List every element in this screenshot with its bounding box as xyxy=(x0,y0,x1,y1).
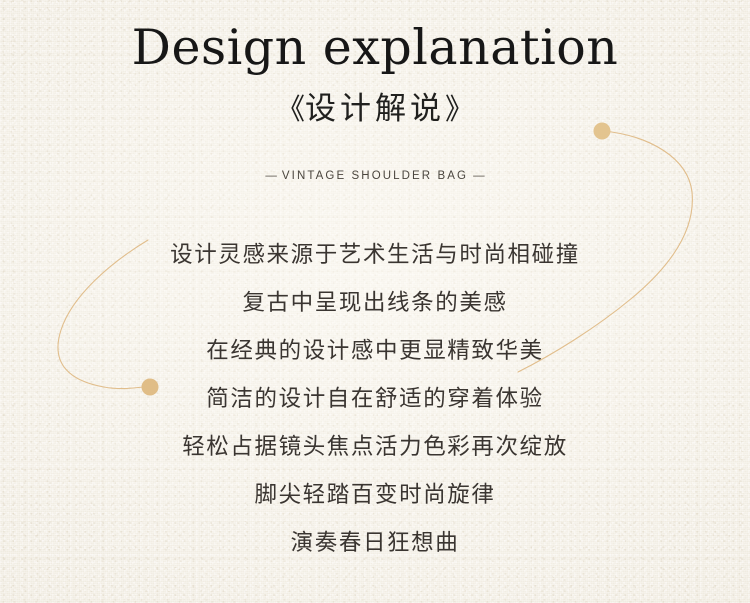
body-line: 演奏春日狂想曲 xyxy=(0,531,750,555)
body-line: 设计灵感来源于艺术生活与时尚相碰撞 xyxy=(0,243,750,267)
tagline-text: VINTAGE SHOULDER BAG xyxy=(282,170,468,182)
body-line: 脚尖轻踏百变时尚旋律 xyxy=(0,483,750,507)
body-copy: 设计灵感来源于艺术生活与时尚相碰撞 复古中呈现出线条的美感 在经典的设计感中更显… xyxy=(0,243,750,579)
subtitle-close-bracket: 》 xyxy=(445,94,474,126)
body-line: 在经典的设计感中更显精致华美 xyxy=(0,339,750,363)
body-line: 轻松占据镜头焦点活力色彩再次绽放 xyxy=(0,435,750,459)
body-line: 简洁的设计自在舒适的穿着体验 xyxy=(0,387,750,411)
design-explanation-poster: Design explanation 《设计解说》 —VINTAGE SHOUL… xyxy=(0,0,750,603)
tagline-dash-left: — xyxy=(260,170,282,182)
product-tagline: —VINTAGE SHOULDER BAG— xyxy=(0,168,750,184)
tagline-dash-right: — xyxy=(468,170,490,182)
subtitle-text: 设计解说 xyxy=(305,91,445,126)
page-title: Design explanation xyxy=(0,17,750,79)
subtitle-open-bracket: 《 xyxy=(276,94,305,126)
body-line: 复古中呈现出线条的美感 xyxy=(0,291,750,315)
page-subtitle: 《设计解说》 xyxy=(0,88,750,131)
